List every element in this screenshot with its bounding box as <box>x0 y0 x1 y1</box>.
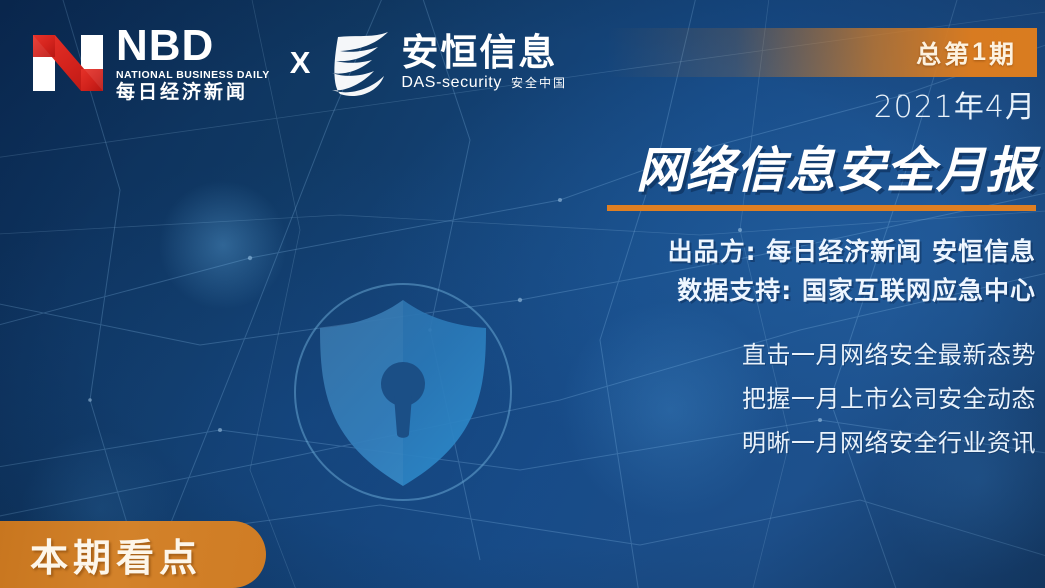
nbd-wordmark: NBD <box>116 24 270 67</box>
issue-badge-suffix: 期 <box>989 35 1017 71</box>
das-english-name: DAS-security <box>401 75 502 91</box>
das-security-logo: 安恒信息 DAS-security 安全中国 <box>330 30 567 96</box>
credit-producer: 出品方: 每日经济新闻 安恒信息 <box>668 232 1036 268</box>
highlight-list: 直击一月网络安全最新态势 把握一月上市公司安全动态 明晰一月网络安全行业资讯 <box>742 335 1036 458</box>
list-item: 明晰一月网络安全行业资讯 <box>742 423 1036 458</box>
nbd-chinese-name: 每日经济新闻 <box>116 83 270 102</box>
list-item: 把握一月上市公司安全动态 <box>742 379 1036 414</box>
issue-number-badge: 总第 1 期 <box>607 28 1037 77</box>
security-monthly-report-cover: NBD NATIONAL BUSINESS DAILY 每日经济新闻 X 安恒信… <box>0 0 1045 588</box>
nbd-english-name: NATIONAL BUSINESS DAILY <box>116 70 270 81</box>
das-tagline: 安全中国 <box>511 77 567 89</box>
page-title: 网络信息安全月报 <box>636 131 1036 202</box>
title-divider <box>607 205 1036 211</box>
highlights-banner: 本期看点 <box>0 521 266 588</box>
das-chinese-name: 安恒信息 <box>401 34 567 71</box>
highlights-banner-label: 本期看点 <box>30 527 202 582</box>
issue-badge-prefix: 总第 <box>916 35 972 71</box>
shield-graphic <box>258 272 548 527</box>
issue-badge-number: 1 <box>972 38 989 67</box>
list-item: 直击一月网络安全最新态势 <box>742 335 1036 370</box>
issue-date: 2021年4月 <box>874 82 1036 126</box>
das-swoosh-mark-icon <box>330 30 392 96</box>
credit-data-support: 数据支持: 国家互联网应急中心 <box>677 271 1036 307</box>
logo-separator-x: X <box>286 45 315 81</box>
logo-row: NBD NATIONAL BUSINESS DAILY 每日经济新闻 X 安恒信… <box>30 24 567 102</box>
nbd-n-mark-icon <box>30 27 106 99</box>
nbd-logo: NBD NATIONAL BUSINESS DAILY 每日经济新闻 <box>30 24 270 102</box>
